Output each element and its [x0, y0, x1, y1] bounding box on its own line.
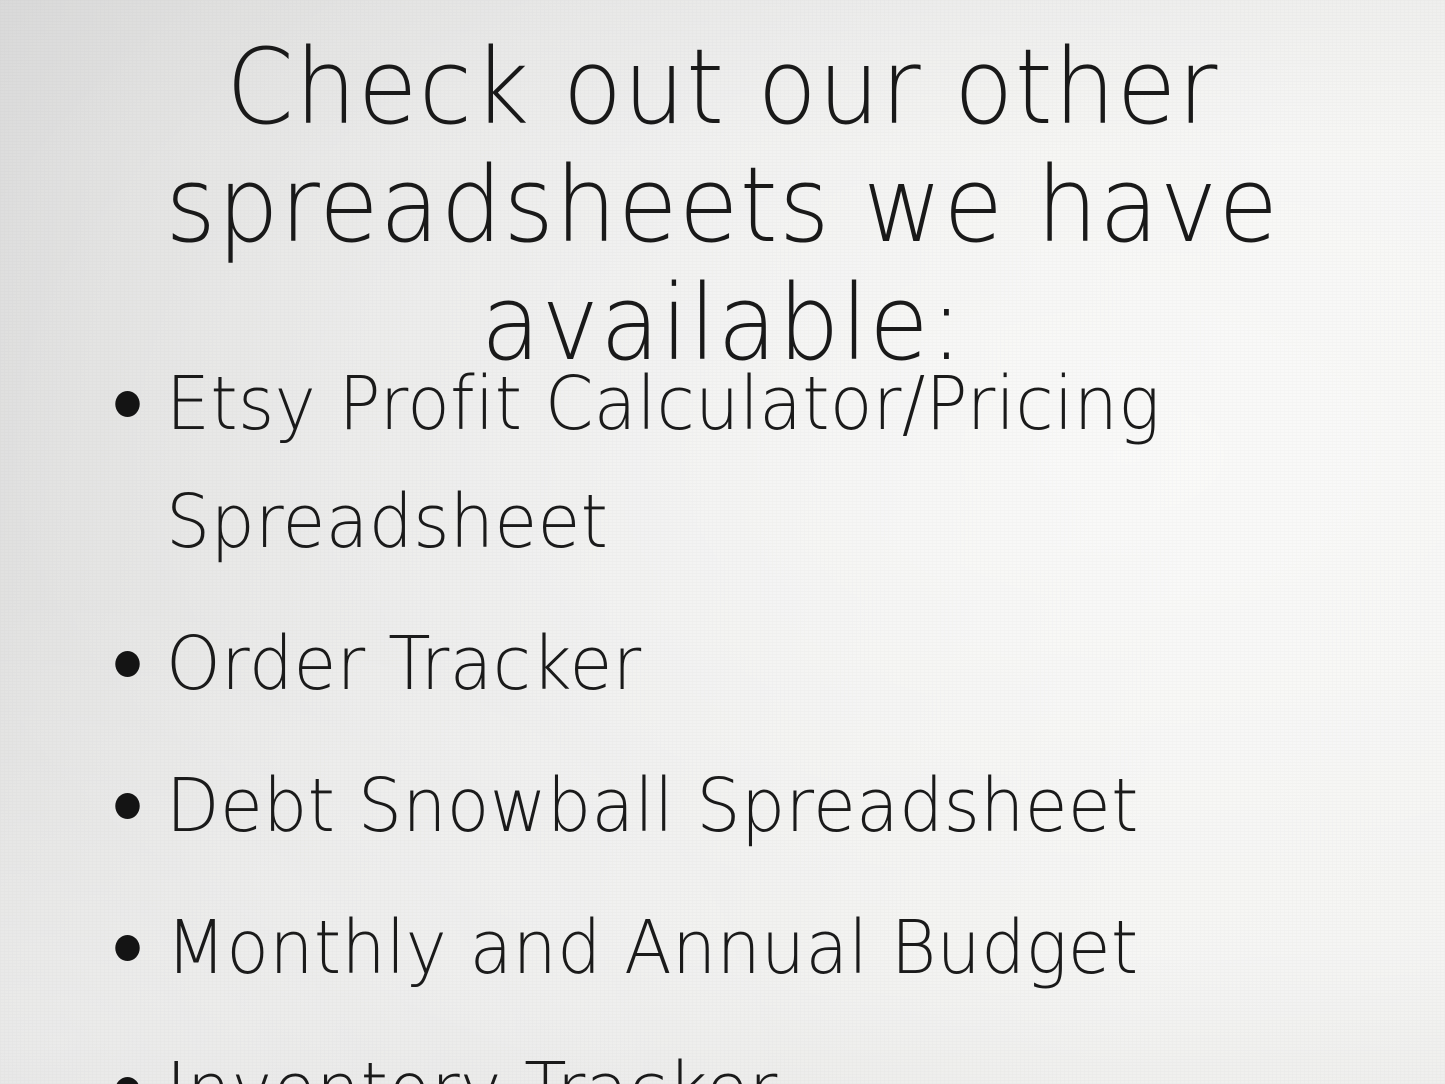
spreadsheet-list: Etsy Profit Calculator/Pricing Spreadshe…: [104, 345, 1394, 1084]
list-item: Inventory Tracker: [104, 1031, 1317, 1084]
list-item-label: Inventory Tracker: [166, 1031, 1317, 1084]
list-item-label: Debt Snowball Spreadsheet: [166, 747, 1317, 865]
list-item: Etsy Profit Calculator/Pricing Spreadshe…: [104, 345, 1317, 581]
list-item: Debt Snowball Spreadsheet: [104, 747, 1317, 865]
bullet-point-icon: [115, 935, 139, 961]
slide-canvas: Check out our other spreadsheets we have…: [0, 0, 1445, 1084]
bullet-point-icon: [115, 651, 139, 677]
list-item: Order Tracker: [104, 605, 1317, 723]
list-item-label: Monthly and Annual Budget: [166, 889, 1317, 1007]
bullet-point-icon: [115, 391, 139, 417]
bullet-point-icon: [115, 1077, 139, 1084]
list-item: Monthly and Annual Budget: [104, 889, 1317, 1007]
list-item-label: Etsy Profit Calculator/Pricing Spreadshe…: [166, 345, 1317, 581]
page-title: Check out our other spreadsheets we have…: [51, 28, 1395, 382]
bullet-point-icon: [115, 793, 139, 819]
list-item-label: Order Tracker: [166, 605, 1317, 723]
slide-content: Check out our other spreadsheets we have…: [0, 0, 1445, 1084]
